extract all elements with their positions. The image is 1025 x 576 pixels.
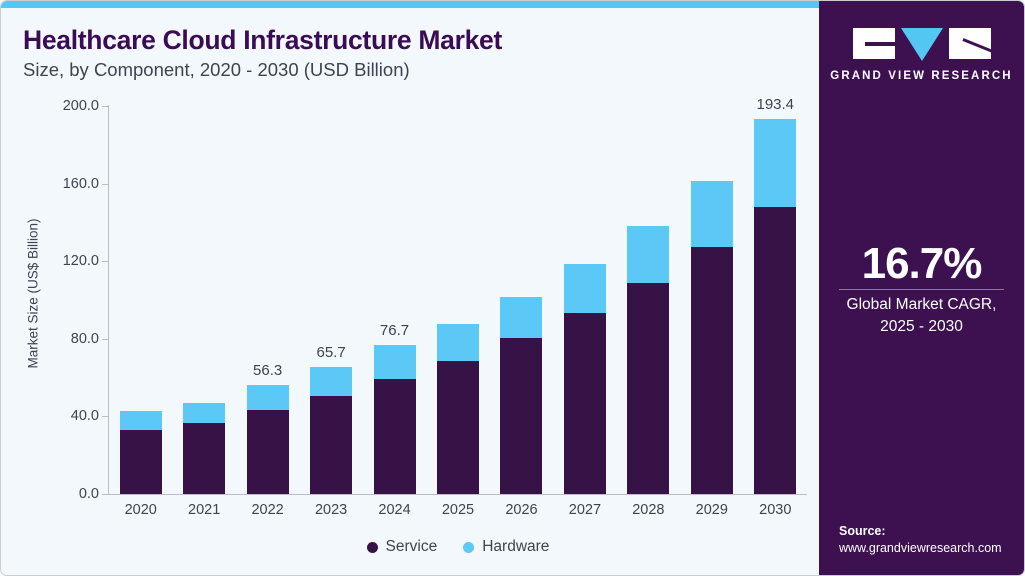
brand-logo: GRAND VIEW RESEARCH (819, 28, 1024, 82)
y-tick-mark (102, 261, 109, 262)
bar-segment-hardware-2022[interactable] (247, 385, 289, 410)
cagr-value: 16.7% (819, 239, 1024, 289)
bar-segment-hardware-2027[interactable] (564, 264, 606, 313)
bar-2026[interactable] (500, 297, 542, 494)
x-tick-label-2030: 2030 (759, 502, 791, 518)
cagr-caption-line-1: Global Market CAGR, (819, 294, 1024, 316)
bar-2024[interactable]: 76.7 (374, 345, 416, 494)
bar-segment-service-2024[interactable] (374, 379, 416, 494)
x-tick-label-2024: 2024 (378, 502, 410, 518)
bar-2023[interactable]: 65.7 (310, 367, 352, 494)
bar-2030[interactable]: 193.4 (754, 119, 796, 494)
bar-segment-service-2026[interactable] (500, 338, 542, 494)
logo-wordmark: GRAND VIEW RESEARCH (819, 70, 1024, 82)
bar-segment-hardware-2028[interactable] (627, 226, 669, 283)
bar-2027[interactable] (564, 264, 606, 494)
logo-g-icon (853, 28, 895, 59)
logo-v-icon (901, 28, 943, 61)
cagr-caption-line-2: 2025 - 2030 (819, 316, 1024, 338)
bar-segment-hardware-2024[interactable] (374, 345, 416, 379)
y-tick-label: 0.0 (79, 486, 99, 502)
y-tick-mark (102, 416, 109, 417)
x-tick-label-2022: 2022 (251, 502, 283, 518)
y-tick-mark (102, 339, 109, 340)
legend-item-service[interactable]: Service (367, 538, 438, 556)
bar-segment-service-2028[interactable] (627, 283, 669, 494)
brand-side-panel: GRAND VIEW RESEARCH 16.7% Global Market … (819, 1, 1024, 576)
x-tick-label-2027: 2027 (569, 502, 601, 518)
source-label: Source: (839, 524, 1002, 538)
bar-segment-service-2020[interactable] (120, 430, 162, 494)
y-tick-mark (102, 184, 109, 185)
legend-label: Service (386, 538, 438, 556)
bar-segment-hardware-2029[interactable] (691, 181, 733, 248)
bar-segment-hardware-2023[interactable] (310, 367, 352, 397)
y-axis-label: Market Size (US$ Billion) (26, 144, 41, 444)
bar-segment-service-2023[interactable] (310, 396, 352, 494)
page-title: Healthcare Cloud Infrastructure Market (23, 25, 502, 56)
cagr-caption: Global Market CAGR, 2025 - 2030 (819, 294, 1024, 338)
bar-value-label-2030: 193.4 (756, 96, 794, 113)
logo-r-icon (949, 28, 991, 59)
chart-panel: Healthcare Cloud Infrastructure Market S… (1, 8, 823, 576)
y-tick-label: 200.0 (63, 98, 99, 114)
x-tick-label-2026: 2026 (505, 502, 537, 518)
bar-segment-service-2027[interactable] (564, 313, 606, 494)
bar-2022[interactable]: 56.3 (247, 385, 289, 494)
y-tick-label: 120.0 (63, 253, 99, 269)
bar-segment-hardware-2021[interactable] (183, 403, 225, 423)
x-tick-label-2029: 2029 (696, 502, 728, 518)
y-tick-mark (102, 494, 109, 495)
plot-area: 56.365.776.7193.4 (109, 106, 807, 494)
logo-marks (819, 28, 1024, 61)
bar-segment-hardware-2020[interactable] (120, 411, 162, 430)
legend-swatch-icon (367, 542, 378, 553)
bar-segment-service-2021[interactable] (183, 423, 225, 494)
y-tick-label: 160.0 (63, 176, 99, 192)
bar-segment-service-2029[interactable] (691, 247, 733, 494)
x-tick-label-2021: 2021 (188, 502, 220, 518)
x-tick-label-2025: 2025 (442, 502, 474, 518)
legend-swatch-icon (463, 542, 474, 553)
chart-infographic: Healthcare Cloud Infrastructure Market S… (0, 0, 1025, 576)
y-tick-label: 80.0 (71, 331, 99, 347)
chart-legend: ServiceHardware (109, 538, 807, 556)
bar-2025[interactable] (437, 324, 479, 494)
bar-2028[interactable] (627, 226, 669, 494)
bar-2029[interactable] (691, 181, 733, 494)
source-url: www.grandviewresearch.com (839, 541, 1002, 555)
legend-label: Hardware (482, 538, 549, 556)
x-tick-label-2020: 2020 (125, 502, 157, 518)
bar-segment-hardware-2030[interactable] (754, 119, 796, 207)
x-tick-label-2023: 2023 (315, 502, 347, 518)
y-tick-mark (102, 106, 109, 107)
bar-2021[interactable] (183, 403, 225, 494)
bar-segment-service-2025[interactable] (437, 361, 479, 494)
bar-2020[interactable] (120, 411, 162, 494)
bar-segment-hardware-2026[interactable] (500, 297, 542, 339)
x-axis-line (108, 494, 807, 495)
bar-value-label-2024: 76.7 (380, 322, 409, 339)
legend-item-hardware[interactable]: Hardware (463, 538, 549, 556)
source-block: Source: www.grandviewresearch.com (839, 524, 1002, 555)
page-subtitle: Size, by Component, 2020 - 2030 (USD Bil… (23, 59, 410, 81)
y-tick-label: 40.0 (71, 408, 99, 424)
bar-value-label-2022: 56.3 (253, 362, 282, 379)
cagr-divider (839, 289, 1004, 290)
bar-segment-service-2030[interactable] (754, 207, 796, 495)
bar-segment-service-2022[interactable] (247, 410, 289, 494)
x-tick-label-2028: 2028 (632, 502, 664, 518)
bar-value-label-2023: 65.7 (316, 344, 345, 361)
bar-segment-hardware-2025[interactable] (437, 324, 479, 361)
